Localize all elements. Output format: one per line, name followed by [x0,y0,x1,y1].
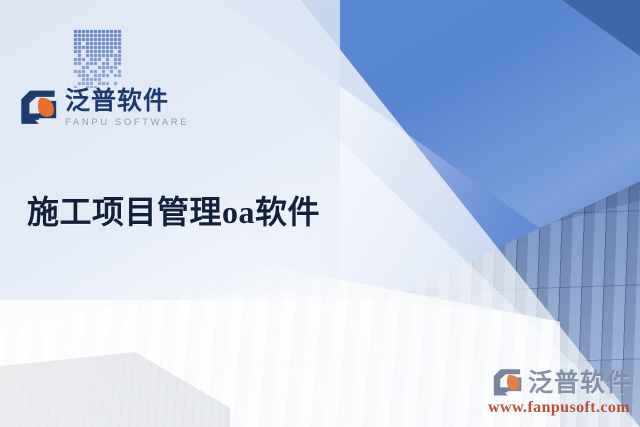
watermark-logo-row: 泛普软件 [488,368,632,398]
watermark: 泛普软件 www.fanpusoft.com [488,368,632,417]
brand-text-block: 泛普软件 FANPU SOFTWARE [65,88,189,129]
watermark-url: www.fanpusoft.com [488,399,632,417]
page-title: 施工项目管理oa软件 [27,187,320,233]
pixel-skyline-canvas [34,6,152,88]
watermark-name-cn: 泛普软件 [528,369,632,397]
pixel-skyline-graphic [34,6,152,88]
promo-banner: 泛普软件 FANPU SOFTWARE 施工项目管理oa软件 泛普软件 www.… [0,0,640,427]
fanpu-logo-icon [490,368,524,398]
brand-name-cn: 泛普软件 [65,88,189,115]
fanpu-logo-icon [18,89,58,127]
brand-logo: 泛普软件 FANPU SOFTWARE [18,88,189,129]
brand-name-en: FANPU SOFTWARE [65,116,189,129]
